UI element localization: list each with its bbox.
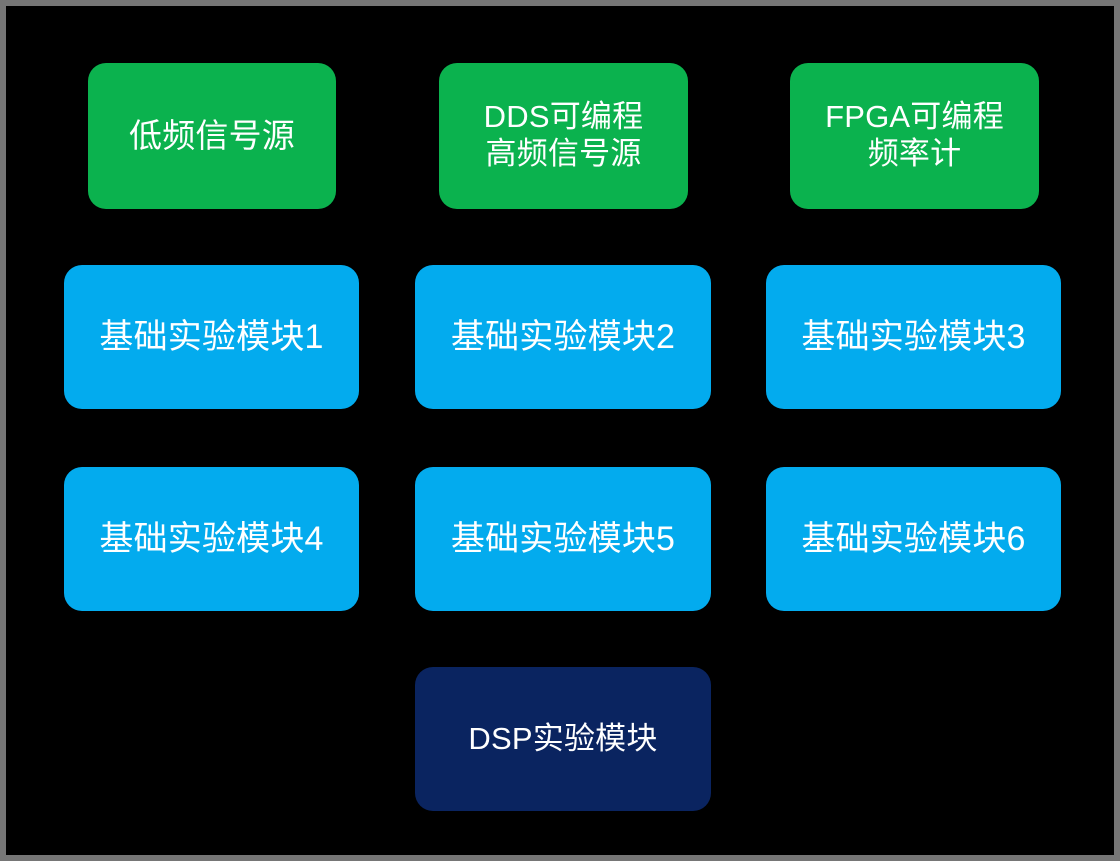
node-label: 基础实验模块1 bbox=[93, 317, 329, 357]
node-basic-experiment-module-5[interactable]: 基础实验模块5 bbox=[415, 467, 711, 611]
node-basic-experiment-module-2[interactable]: 基础实验模块2 bbox=[415, 265, 711, 409]
node-low-frequency-signal-source[interactable]: 低频信号源 bbox=[88, 63, 336, 209]
node-label: 基础实验模块4 bbox=[93, 519, 329, 559]
node-label: DDS可编程 高频信号源 bbox=[478, 99, 650, 172]
node-dds-programmable-high-frequency-signal-source[interactable]: DDS可编程 高频信号源 bbox=[439, 63, 688, 209]
node-label: 基础实验模块2 bbox=[445, 317, 681, 357]
node-dsp-experiment-module[interactable]: DSP实验模块 bbox=[415, 667, 711, 811]
node-basic-experiment-module-4[interactable]: 基础实验模块4 bbox=[64, 467, 359, 611]
node-label: 低频信号源 bbox=[123, 117, 301, 156]
node-basic-experiment-module-3[interactable]: 基础实验模块3 bbox=[766, 265, 1061, 409]
node-fpga-programmable-frequency-counter[interactable]: FPGA可编程 频率计 bbox=[790, 63, 1039, 209]
diagram-canvas: 低频信号源 DDS可编程 高频信号源 FPGA可编程 频率计 基础实验模块1 基… bbox=[0, 0, 1120, 861]
node-basic-experiment-module-1[interactable]: 基础实验模块1 bbox=[64, 265, 359, 409]
node-label: 基础实验模块5 bbox=[445, 519, 681, 559]
node-label: FPGA可编程 频率计 bbox=[819, 99, 1010, 172]
node-label: 基础实验模块3 bbox=[795, 317, 1031, 357]
node-label: DSP实验模块 bbox=[462, 721, 663, 758]
node-label: 基础实验模块6 bbox=[795, 519, 1031, 559]
node-basic-experiment-module-6[interactable]: 基础实验模块6 bbox=[766, 467, 1061, 611]
